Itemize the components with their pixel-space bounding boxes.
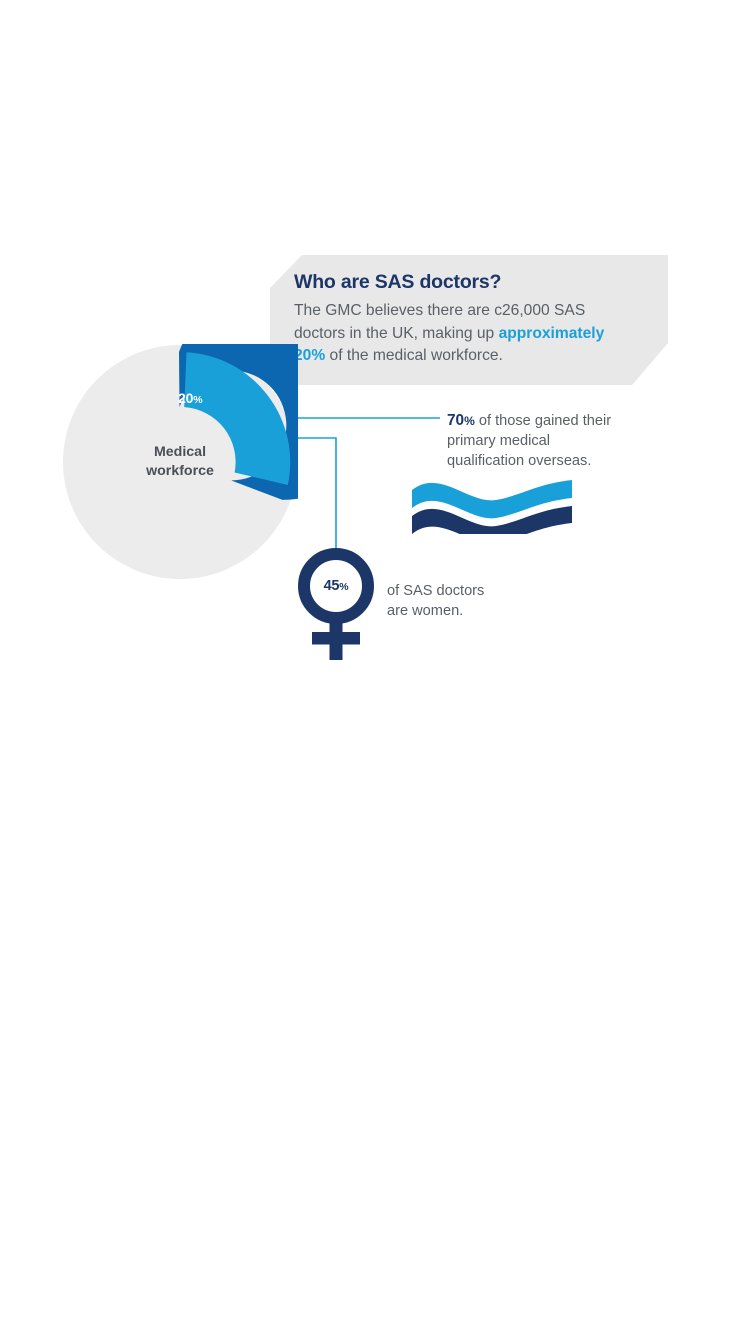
- stat-women-text-line2: are women.: [387, 601, 547, 621]
- venus-symbol-icon: [296, 546, 376, 662]
- stat-women-text-line1: of SAS doctors: [387, 581, 547, 601]
- callout-text-block: Who are SAS doctors? The GMC believes th…: [294, 272, 639, 367]
- stat-overseas: 70% of those gained their primary medica…: [447, 410, 627, 472]
- stat-women-value-percent: %: [339, 581, 348, 593]
- donut-segment-value-number: 20: [178, 390, 193, 406]
- donut-chart: Medical workforce: [62, 344, 298, 580]
- stat-overseas-value-number: 70: [447, 412, 464, 429]
- stat-overseas-value-percent: %: [464, 414, 475, 428]
- callout-body: The GMC believes there are c26,000 SAS d…: [294, 300, 639, 366]
- donut-segment-value: 20%: [178, 390, 202, 406]
- stat-overseas-value: 70%: [447, 412, 475, 429]
- stat-women-value: 45%: [296, 578, 376, 594]
- infographic-canvas: Who are SAS doctors? The GMC believes th…: [0, 0, 750, 1333]
- donut-hole: [125, 407, 235, 517]
- stat-women-value-number: 45: [324, 578, 340, 594]
- callout-panel: Who are SAS doctors? The GMC believes th…: [270, 255, 668, 385]
- callout-title: Who are SAS doctors?: [294, 272, 639, 293]
- connector-lines: [0, 0, 750, 1333]
- donut-chart-svg: [62, 344, 298, 580]
- stat-women-text: of SAS doctors are women.: [387, 581, 547, 621]
- donut-segment-value-percent: %: [193, 394, 202, 406]
- venus-crossbar: [312, 632, 360, 645]
- waves-icon: [406, 470, 582, 534]
- callout-body-part2: of the medical workforce.: [325, 347, 503, 364]
